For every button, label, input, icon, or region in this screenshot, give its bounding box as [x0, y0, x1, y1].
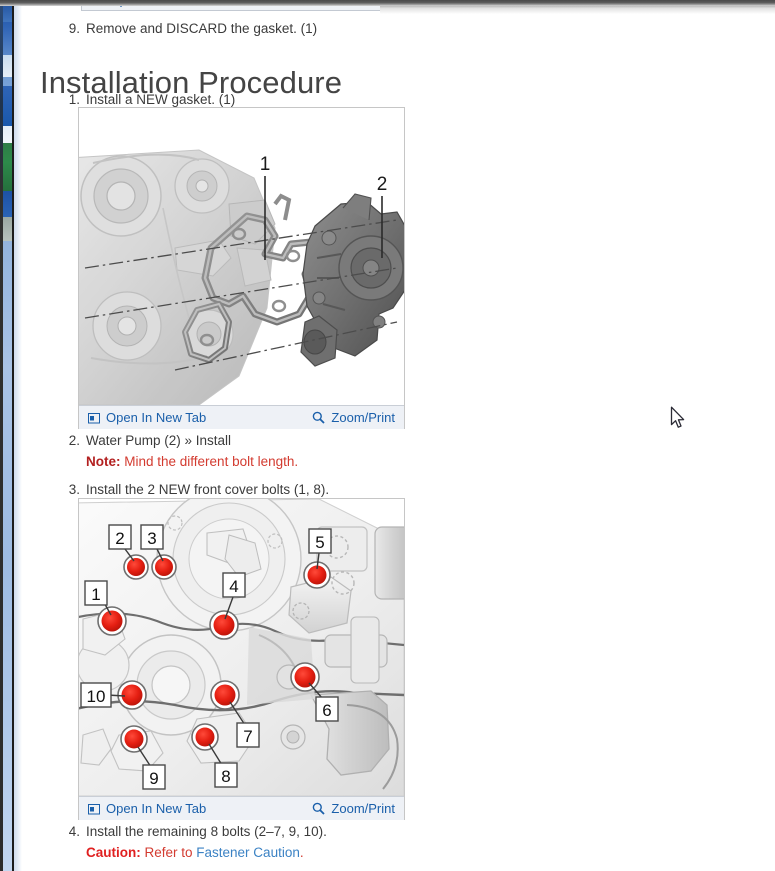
figure-1-image[interactable]: 1 2 — [79, 108, 404, 405]
figure-gasket-waterpump[interactable]: 1 2 Open In New Tab — [78, 107, 405, 429]
sidebar-rail — [14, 0, 22, 871]
figure-2-callout-2: 2 — [115, 529, 124, 548]
step-4-caution: Caution: Refer to Fastener Caution. — [86, 843, 304, 863]
list-item-step-4: 4.Install the remaining 8 bolts (2–7, 9,… — [58, 822, 327, 842]
open-in-new-tab-label-fig1: Open In New Tab — [106, 410, 206, 425]
zoom-print-label-fig1: Zoom/Print — [331, 410, 395, 425]
figure-1-callout-2: 2 — [377, 174, 388, 195]
figure-2-callout-8: 8 — [221, 767, 230, 786]
figure-1-illustration: 1 2 — [79, 108, 404, 405]
figure-1-callout-1: 1 — [260, 154, 271, 175]
figure-2-illustration: 1 2 3 4 5 6 7 — [79, 499, 404, 796]
document-content: Open In New Tab Zoom/Print 9.Remove and … — [22, 0, 775, 871]
zoom-print-button-fig1[interactable]: Zoom/Print — [312, 410, 395, 425]
step-9-number: 9. — [58, 19, 80, 39]
figure-2-callout-7: 7 — [243, 727, 252, 746]
magnifier-icon — [312, 411, 325, 424]
figure-2-callout-10: 10 — [87, 687, 106, 706]
open-in-new-tab-button-fig1[interactable]: Open In New Tab — [88, 410, 206, 425]
step-2-text: Water Pump (2) » Install — [86, 433, 231, 448]
figure-2-toolbar[interactable]: Open In New Tab Zoom/Print — [79, 796, 404, 820]
sidebar-segment-gray — [3, 217, 12, 241]
note-label: Note: — [86, 454, 121, 469]
vertical-thumbnail-strip[interactable] — [0, 0, 22, 871]
step-4-number: 4. — [58, 822, 80, 842]
sidebar-border-right — [12, 0, 14, 871]
step-1-text: Install a NEW gasket. (1) — [86, 92, 235, 107]
sidebar-segment-tail — [3, 241, 12, 871]
sidebar-segment-blue-2 — [3, 86, 12, 126]
figure-2-callout-4: 4 — [229, 577, 238, 596]
step-3-number: 3. — [58, 480, 80, 500]
window-chrome-top — [0, 0, 775, 6]
fastener-caution-link[interactable]: Fastener Caution — [196, 845, 300, 860]
step-1-number: 1. — [58, 90, 80, 110]
figure-2-callout-6: 6 — [322, 701, 331, 720]
magnifier-icon — [312, 802, 325, 815]
zoom-print-label-fig2: Zoom/Print — [331, 801, 395, 816]
list-item-step-2: 2.Water Pump (2) » Install — [58, 431, 231, 451]
figure-2-callout-5: 5 — [315, 533, 324, 552]
external-window-icon — [88, 803, 100, 815]
sidebar-border-left — [0, 0, 3, 871]
step-2-number: 2. — [58, 431, 80, 451]
figure-2-callout-9: 9 — [149, 769, 158, 788]
figure-front-cover-bolts[interactable]: 1 2 3 4 5 6 7 — [78, 498, 405, 820]
list-item-step-3: 3.Install the 2 NEW front cover bolts (1… — [58, 480, 329, 500]
figure-2-image[interactable]: 1 2 3 4 5 6 7 — [79, 499, 404, 796]
sidebar-segment-blue-3 — [3, 191, 12, 217]
sidebar-segment-light-2 — [3, 126, 12, 143]
figure-2-callout-1: 1 — [91, 585, 100, 604]
list-item-step-9: 9.Remove and DISCARD the gasket. (1) — [58, 19, 317, 39]
step-9-text: Remove and DISCARD the gasket. (1) — [86, 21, 317, 36]
open-in-new-tab-label-fig2: Open In New Tab — [106, 801, 206, 816]
open-in-new-tab-button-fig2[interactable]: Open In New Tab — [88, 801, 206, 816]
step-2-note: Note: Mind the different bolt length. — [86, 452, 298, 472]
figure-2-callout-3: 3 — [147, 529, 156, 548]
step-3-text: Install the 2 NEW front cover bolts (1, … — [86, 482, 329, 497]
sidebar-segment-light-1 — [3, 55, 12, 77]
caution-tail: . — [300, 845, 304, 860]
figure-1-toolbar[interactable]: Open In New Tab Zoom/Print — [79, 405, 404, 429]
zoom-print-button-fig2[interactable]: Zoom/Print — [312, 801, 395, 816]
caution-text: Refer to — [141, 845, 197, 860]
note-text: Mind the different bolt length. — [121, 454, 299, 469]
step-4-text: Install the remaining 8 bolts (2–7, 9, 1… — [86, 824, 327, 839]
sidebar-segment-green — [3, 143, 12, 191]
caution-label: Caution: — [86, 845, 141, 860]
app-window: Open In New Tab Zoom/Print 9.Remove and … — [0, 0, 775, 871]
external-window-icon — [88, 412, 100, 424]
